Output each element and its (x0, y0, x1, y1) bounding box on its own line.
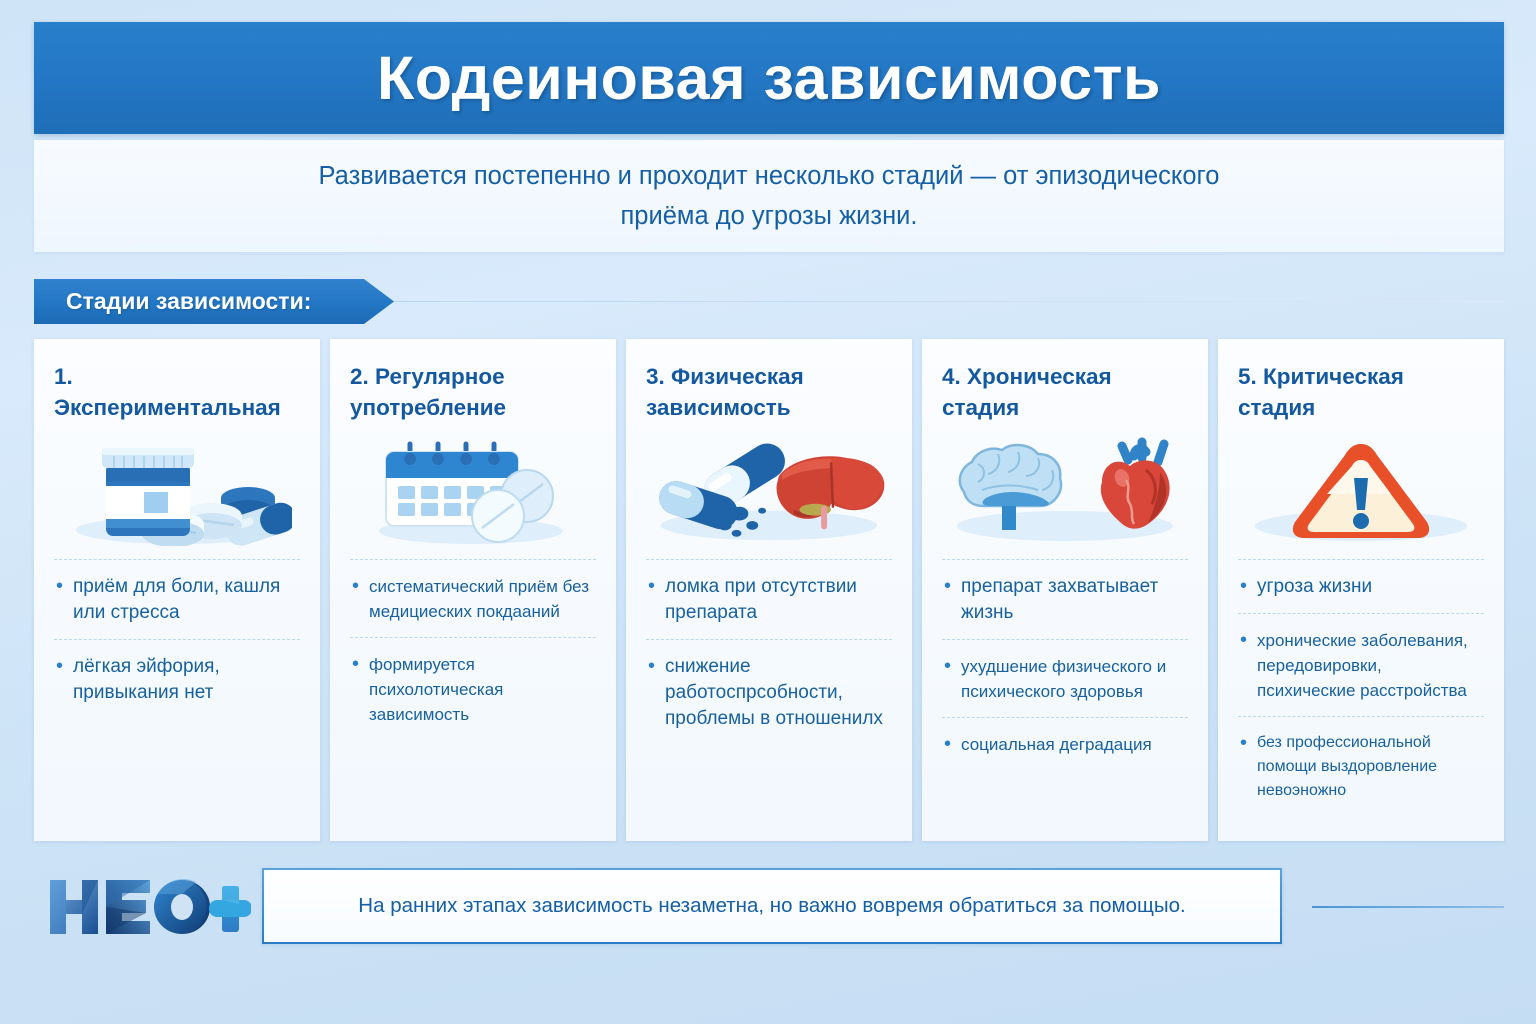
list-item: • лёгкая эйфория, привыкания нет (54, 640, 300, 719)
bullet-label: ухудшение физического и психического здо… (961, 654, 1188, 704)
list-item: • снижение работоспрсобности, проблемы в… (646, 640, 892, 745)
banner-rule (384, 301, 1504, 302)
section-banner-label: Стадии зависимости: (34, 288, 311, 315)
bullet-dot-icon: • (56, 654, 63, 678)
footer-note-box: На ранних этапах зависимость незаметна, … (262, 868, 1282, 944)
stage-card-2[interactable]: 2. Регулярное употребление (330, 339, 616, 841)
stage-card-title: 2. Регулярное употребление (350, 361, 596, 423)
bullet-label: приём для боли, кашля или стресса (73, 574, 300, 626)
stage-card-1[interactable]: 1. Экспериментальная (34, 339, 320, 841)
bullet-label: снижение работоспрсобности, проблемы в о… (665, 654, 892, 732)
list-item: • формируется психолотическая зависимост… (350, 638, 596, 740)
footer-rule (1312, 906, 1504, 908)
bullet-label: угроза жизни (1257, 574, 1372, 600)
bullet-dot-icon: • (648, 654, 655, 678)
page-title: Кодеиновая зависимость (377, 43, 1161, 113)
bullet-dot-icon: • (1240, 731, 1247, 755)
list-item: • социальная деградация (942, 718, 1188, 770)
warning-triangle-icon (1238, 431, 1484, 549)
list-item: • ухудшение физического и психического з… (942, 640, 1188, 717)
subtitle-line-1: Развивается постепенно и проходит нескол… (319, 156, 1220, 196)
brand-logo[interactable] (46, 874, 251, 940)
bullet-dot-icon: • (944, 574, 951, 598)
footer-note-text: На ранних этапах зависимость незаметна, … (358, 894, 1185, 918)
stage-card-list: 1. Экспериментальная (34, 339, 1504, 841)
stage-card-title: 1. Экспериментальная (54, 361, 300, 423)
footer: На ранних этапах зависимость незаметна, … (34, 858, 1504, 958)
list-item: • ломка при отсутствии препарата (646, 560, 892, 639)
bullet-dot-icon: • (944, 732, 951, 756)
bullet-dot-icon: • (1240, 628, 1247, 652)
stage-card-5[interactable]: 5. Критическая стадия • угроза жизни (1218, 339, 1504, 841)
subtitle-line-2: приёма до угрозы жизни. (621, 196, 918, 236)
calendar-pills-icon (350, 431, 596, 549)
bullet-label: лёгкая эйфория, привыкания нет (73, 654, 300, 706)
bullet-label: систематический приём без медициеских по… (369, 574, 596, 624)
stage-card-3[interactable]: 3. Физическая зависимость (626, 339, 912, 841)
stage-card-4[interactable]: 4. Хроническая стадия (922, 339, 1208, 841)
bullet-dot-icon: • (1240, 574, 1247, 598)
brain-heart-icon (942, 431, 1188, 549)
subtitle-panel: Развивается постепенно и проходит нескол… (34, 140, 1504, 252)
bullet-dot-icon: • (352, 574, 359, 598)
infographic-page: Кодеиновая зависимость Развивается посте… (0, 0, 1536, 1024)
stage-card-title: 5. Критическая стадия (1238, 361, 1484, 423)
list-item: • систематический приём без медициеских … (350, 560, 596, 637)
stage-card-title: 4. Хроническая стадия (942, 361, 1188, 423)
bullet-dot-icon: • (944, 654, 951, 678)
stage-bullet-list: • систематический приём без медициеских … (350, 559, 596, 740)
list-item: • приём для боли, кашля или стресса (54, 560, 300, 639)
bullet-dot-icon: • (352, 652, 359, 676)
stage-bullet-list: • ломка при отсутствии препарата • сниже… (646, 559, 892, 745)
bullet-label: ломка при отсутствии препарата (665, 574, 892, 626)
capsule-liver-icon (646, 431, 892, 549)
banner-chevron-shape: Стадии зависимости: (34, 279, 394, 324)
list-item: • хронические заболевания, передовировки… (1238, 614, 1484, 716)
stage-bullet-list: • препарат захватывает жизнь • ухудшение… (942, 559, 1188, 770)
section-banner: Стадии зависимости: (34, 279, 1504, 324)
stage-bullet-list: • приём для боли, кашля или стресса • лё… (54, 559, 300, 719)
bullet-label: формируется психолотическая зависимость (369, 652, 596, 727)
bullet-label: хронические заболевания, передовировки, … (1257, 628, 1484, 703)
bullet-label: препарат захватывает жизнь (961, 574, 1188, 626)
list-item: • препарат захватывает жизнь (942, 560, 1188, 639)
bullet-label: социальная деградация (961, 732, 1152, 757)
header-bar: Кодеиновая зависимость (34, 22, 1504, 134)
pill-bottle-icon (54, 431, 300, 549)
bullet-label: без профессиональной помощи выздоровлени… (1257, 731, 1484, 803)
bullet-dot-icon: • (648, 574, 655, 598)
stage-card-title: 3. Физическая зависимость (646, 361, 892, 423)
list-item: • без профессиональной помощи выздоровле… (1238, 717, 1484, 816)
stage-bullet-list: • угроза жизни • хронические заболевания… (1238, 559, 1484, 816)
list-item: • угроза жизни (1238, 560, 1484, 613)
bullet-dot-icon: • (56, 574, 63, 598)
